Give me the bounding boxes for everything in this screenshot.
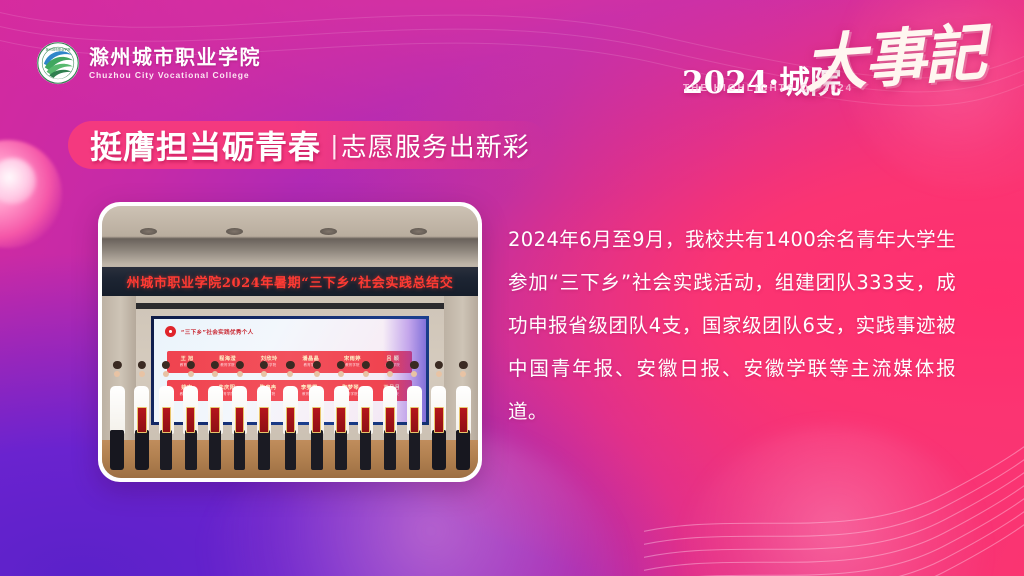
masthead-calligraphy: 大事記 (802, 22, 986, 96)
event-photo-card: 州城市职业学院2024年暑期“三下乡”社会实践总结交 “三下乡”社会实践优秀个人… (98, 202, 482, 482)
wall-strip (132, 303, 448, 310)
ceiling-light (226, 228, 243, 235)
person (356, 361, 376, 470)
led-header: “三下乡”社会实践优秀个人 (165, 326, 254, 337)
headline-separator: | (331, 130, 338, 161)
person (132, 361, 152, 470)
person (405, 361, 425, 470)
decor-orb-left (0, 140, 62, 248)
award-recipients-row (102, 361, 478, 470)
hall-ceiling (102, 206, 478, 269)
body-paragraph: 2024年6月至9月，我校共有1400余名青年大学生参加“三下乡”社会实践活动，… (508, 218, 956, 433)
decor-orb-left-highlight (0, 158, 36, 204)
person (254, 361, 274, 470)
stage-banner-text: 州城市职业学院2024年暑期“三下乡”社会实践总结交 (127, 272, 454, 291)
person (380, 361, 400, 470)
person (281, 361, 301, 470)
person (230, 361, 250, 470)
award-badge-icon (165, 326, 176, 337)
college-seal-icon: 滁州城市职业学院 (36, 41, 80, 85)
svg-text:滁州城市职业学院: 滁州城市职业学院 (46, 47, 71, 52)
event-photo: 州城市职业学院2024年暑期“三下乡”社会实践总结交 “三下乡”社会实践优秀个人… (102, 206, 478, 478)
headline-main-text: 挺膺担当砺青春 (90, 122, 321, 168)
person (454, 361, 474, 470)
ceiling-light (140, 228, 157, 235)
person (205, 361, 225, 470)
stage-banner: 州城市职业学院2024年暑期“三下乡”社会实践总结交 (102, 267, 478, 296)
person (181, 361, 201, 470)
college-name-en: Chuzhou City Vocational College (89, 71, 261, 80)
decor-orb-bottom-right (684, 426, 984, 576)
masthead: 2024·城院 THE HIGHLIGHTS OF 2024 大事記 (678, 32, 978, 116)
ceiling-light (320, 228, 337, 235)
headline-sub-text: 志愿服务出新彩 (341, 127, 530, 164)
person (331, 361, 351, 470)
person (157, 361, 177, 470)
slide-canvas: 滁州城市职业学院 滁州城市职业学院 Chuzhou City Vocationa… (0, 0, 1024, 576)
led-header-text: “三下乡”社会实践优秀个人 (181, 328, 254, 336)
person (429, 361, 449, 470)
ceiling-light (410, 228, 427, 235)
college-name-cn: 滁州城市职业学院 (89, 47, 261, 67)
headline-banner: 挺膺担当砺青春 | 志愿服务出新彩 (68, 121, 548, 169)
person (108, 361, 128, 470)
person (307, 361, 327, 470)
college-logo: 滁州城市职业学院 滁州城市职业学院 Chuzhou City Vocationa… (36, 41, 261, 85)
